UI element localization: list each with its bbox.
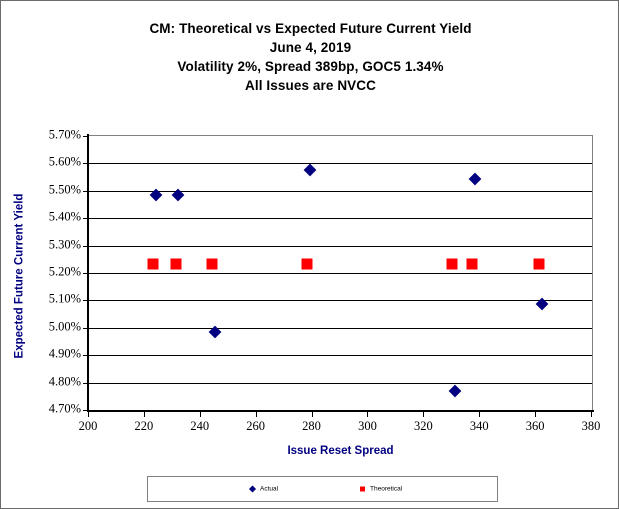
x-tick-label: 300 (358, 419, 377, 434)
y-axis-line (87, 134, 89, 412)
data-point-theoretical[interactable] (301, 258, 312, 269)
y-tick-label: 5.30% (49, 237, 81, 252)
y-tick-label: 4.70% (49, 402, 81, 417)
data-point-theoretical[interactable] (206, 258, 217, 269)
chart-legend: Actual Theoretical (147, 476, 498, 502)
gridline-y (89, 218, 592, 219)
x-tick-mark (88, 411, 89, 417)
legend-entry-actual[interactable]: Actual (250, 486, 278, 493)
chart-container: CM: Theoretical vs Expected Future Curre… (0, 0, 619, 509)
y-tick-label: 5.50% (49, 182, 81, 197)
x-tick-label: 340 (470, 419, 489, 434)
y-tick-label: 5.00% (49, 319, 81, 334)
data-point-theoretical[interactable] (447, 258, 458, 269)
legend-marker-diamond-icon (249, 485, 256, 492)
x-tick-mark (200, 411, 201, 417)
x-axis-title: Issue Reset Spread (88, 445, 593, 457)
data-point-actual[interactable] (449, 385, 462, 398)
legend-marker-square-icon (360, 487, 365, 492)
x-tick-label: 320 (414, 419, 433, 434)
y-tick-label: 4.90% (49, 347, 81, 362)
x-tick-label: 200 (79, 419, 98, 434)
gridline-y (89, 163, 592, 164)
y-axis-tick-labels: 4.70%4.80%4.90%5.00%5.10%5.20%5.30%5.40%… (29, 135, 81, 411)
gridline-y (89, 328, 592, 329)
y-tick-label: 5.10% (49, 292, 81, 307)
data-point-theoretical[interactable] (466, 258, 477, 269)
x-tick-label: 220 (135, 419, 154, 434)
x-tick-label: 360 (526, 419, 545, 434)
legend-label-actual: Actual (260, 486, 278, 493)
data-point-theoretical[interactable] (533, 258, 544, 269)
x-tick-mark (423, 411, 424, 417)
x-tick-mark (535, 411, 536, 417)
data-point-actual[interactable] (303, 163, 316, 176)
y-tick-label: 4.80% (49, 374, 81, 389)
gridline-y (89, 383, 592, 384)
chart-title-line-1: CM: Theoretical vs Expected Future Curre… (1, 19, 619, 38)
x-tick-mark (256, 411, 257, 417)
gridline-y (89, 355, 592, 356)
chart-title-line-4: All Issues are NVCC (1, 76, 619, 95)
gridline-y (89, 300, 592, 301)
chart-title: CM: Theoretical vs Expected Future Curre… (1, 19, 619, 95)
x-tick-label: 380 (582, 419, 601, 434)
gridline-y (89, 246, 592, 247)
x-axis-tick-labels: 200220240260280300320340360380 (88, 419, 593, 437)
x-tick-label: 240 (190, 419, 209, 434)
y-tick-label: 5.70% (49, 128, 81, 143)
gridline-y (89, 273, 592, 274)
x-tick-mark (367, 411, 368, 417)
x-tick-mark (312, 411, 313, 417)
chart-title-line-3: Volatility 2%, Spread 389bp, GOC5 1.34% (1, 57, 619, 76)
x-tick-label: 280 (302, 419, 321, 434)
y-tick-label: 5.40% (49, 210, 81, 225)
x-tick-mark (591, 411, 592, 417)
x-tick-mark (144, 411, 145, 417)
data-point-theoretical[interactable] (170, 258, 181, 269)
data-point-actual[interactable] (535, 297, 548, 310)
chart-title-line-2: June 4, 2019 (1, 38, 619, 57)
legend-entry-theoretical[interactable]: Theoretical (360, 486, 402, 493)
y-tick-label: 5.60% (49, 155, 81, 170)
x-axis-tick-marks (88, 411, 593, 418)
x-tick-mark (479, 411, 480, 417)
plot-area (88, 135, 593, 411)
gridline-y (89, 191, 592, 192)
y-axis-title: Expected Future Current Yield (8, 141, 30, 411)
legend-label-theoretical: Theoretical (370, 486, 402, 493)
y-axis-title-label: Expected Future Current Yield (13, 194, 25, 359)
x-tick-label: 260 (246, 419, 265, 434)
data-point-actual[interactable] (468, 173, 481, 186)
y-tick-label: 5.20% (49, 265, 81, 280)
data-point-theoretical[interactable] (148, 258, 159, 269)
